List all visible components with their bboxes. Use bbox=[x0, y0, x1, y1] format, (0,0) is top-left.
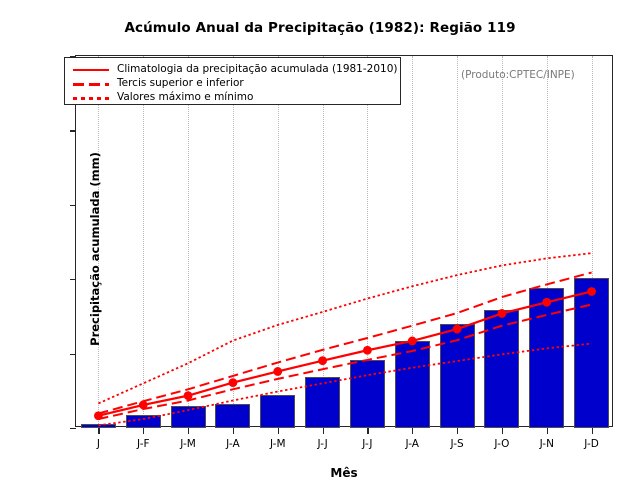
reference-curves bbox=[76, 56, 614, 428]
legend-label: Climatologia da precipitação acumulada (… bbox=[117, 63, 397, 75]
legend-label: Valores máximo e mínimo bbox=[117, 91, 253, 103]
x-tick-mark bbox=[592, 428, 593, 434]
x-tick-label: J-N bbox=[540, 438, 554, 450]
climatology-marker bbox=[587, 287, 596, 296]
climatology-marker bbox=[318, 356, 327, 365]
precipitation-chart: Acúmulo Anual da Precipitação (1982): Re… bbox=[0, 0, 640, 500]
climatology-marker bbox=[408, 337, 417, 346]
x-tick-label: J-A bbox=[406, 438, 419, 450]
x-tick-label: J-D bbox=[584, 438, 599, 450]
x-tick-mark bbox=[547, 428, 548, 434]
x-tick-mark bbox=[412, 428, 413, 434]
x-tick-mark bbox=[278, 428, 279, 434]
x-tick-mark bbox=[233, 428, 234, 434]
climatology-marker bbox=[453, 325, 462, 334]
chart-title: Acúmulo Anual da Precipitação (1982): Re… bbox=[0, 20, 640, 36]
product-annotation: (Produto:CPTEC/INPE) bbox=[461, 69, 575, 81]
climatology-marker bbox=[273, 367, 282, 376]
legend-label: Tercis superior e inferior bbox=[117, 77, 244, 89]
x-tick-label: J-S bbox=[450, 438, 463, 450]
x-tick-label: J-M bbox=[180, 438, 196, 450]
x-axis-label: Mês bbox=[75, 466, 613, 480]
x-tick-mark bbox=[367, 428, 368, 434]
x-tick-mark bbox=[457, 428, 458, 434]
x-tick-mark bbox=[323, 428, 324, 434]
x-tick-label: J-M bbox=[270, 438, 286, 450]
legend: Climatologia da precipitação acumulada (… bbox=[64, 57, 401, 105]
x-tick-label: J bbox=[97, 438, 100, 450]
x-tick-label: J-J bbox=[362, 438, 372, 450]
x-tick-label: J-F bbox=[137, 438, 150, 450]
x-tick-mark bbox=[502, 428, 503, 434]
legend-dashed-line-icon bbox=[73, 83, 109, 86]
climatology-marker bbox=[542, 298, 551, 307]
upper-tercile-curve bbox=[98, 273, 591, 414]
max-curve bbox=[98, 253, 591, 403]
lower-tercile-curve bbox=[98, 304, 591, 419]
x-tick-label: J-O bbox=[494, 438, 509, 450]
climatology-marker bbox=[94, 411, 103, 420]
x-tick-label: J-A bbox=[226, 438, 239, 450]
x-tick-mark bbox=[188, 428, 189, 434]
climatology-marker bbox=[139, 401, 148, 410]
legend-solid-line-icon bbox=[73, 69, 109, 71]
x-tick-label: J-J bbox=[317, 438, 327, 450]
climatology-marker bbox=[184, 391, 193, 400]
y-tick-mark bbox=[70, 428, 76, 429]
climatology-marker bbox=[363, 346, 372, 355]
x-tick-mark bbox=[143, 428, 144, 434]
plot-area: 010002000300040005000 JJ-FJ-MJ-AJ-MJ-JJ-… bbox=[75, 55, 613, 427]
legend-dotted-line-icon bbox=[73, 97, 109, 100]
climatology-marker bbox=[229, 378, 238, 387]
climatology-marker bbox=[498, 309, 507, 318]
climatology-curve bbox=[98, 291, 591, 415]
